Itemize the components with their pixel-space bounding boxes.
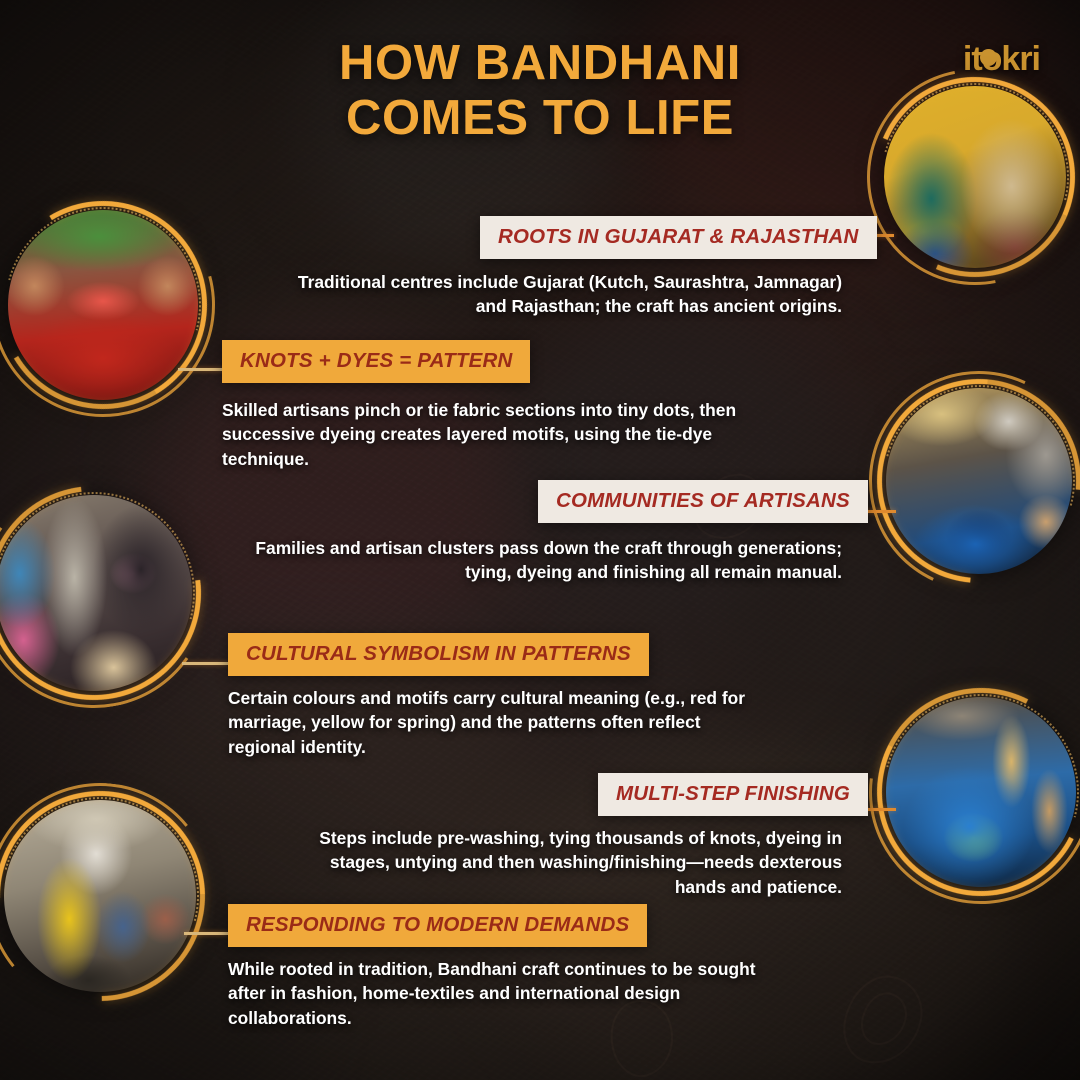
connector-line-4: [182, 662, 228, 665]
photo-dipping-yellow-fabric: [886, 697, 1076, 887]
photo-lifting-yellow-fabric: [4, 800, 196, 992]
section-body-1: Traditional centres include Gujarat (Kut…: [280, 270, 842, 319]
photo-hands-tying-red-fabric: [8, 210, 198, 400]
section-heading-2: KNOTS + DYES = PATTERN: [222, 340, 530, 383]
logo-circle-icon: [980, 49, 997, 66]
photo-two-women-tying-knots: [884, 86, 1066, 268]
section-body-2: Skilled artisans pinch or tie fabric sec…: [222, 398, 742, 471]
photo-dyer-in-blue-tub: [886, 388, 1072, 574]
section-heading-3: COMMUNITIES OF ARTISANS: [538, 480, 868, 523]
photo-woman-tying-cream-fabric: [0, 495, 192, 691]
section-body-4: Certain colours and motifs carry cultura…: [228, 686, 758, 759]
section-heading-6: RESPONDING TO MODERN DEMANDS: [228, 904, 647, 947]
infographic-poster: HOW BANDHANI COMES TO LIFE itokri: [0, 0, 1080, 1080]
connector-line-2: [178, 368, 224, 371]
section-body-5: Steps include pre-washing, tying thousan…: [300, 826, 842, 899]
connector-line-6: [184, 932, 228, 935]
section-body-3: Families and artisan clusters pass down …: [244, 536, 842, 585]
section-heading-5: MULTI-STEP FINISHING: [598, 773, 868, 816]
section-body-6: While rooted in tradition, Bandhani craf…: [228, 957, 780, 1030]
section-heading-1: ROOTS IN GUJARAT & RAJASTHAN: [480, 216, 877, 259]
title-line-1: HOW BANDHANI: [339, 36, 741, 90]
section-heading-4: CULTURAL SYMBOLISM IN PATTERNS: [228, 633, 649, 676]
